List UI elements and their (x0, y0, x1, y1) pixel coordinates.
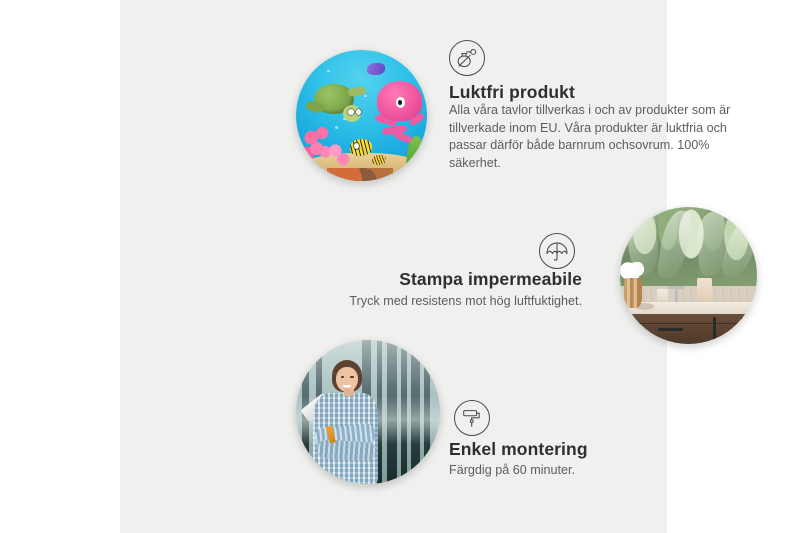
feature-1-body: Alla våra tavlor tillverkas i och av pro… (449, 102, 749, 172)
paint-roller-icon (454, 400, 490, 436)
no-odor-perfume-bottle-icon (449, 40, 485, 76)
underwater-cartoon-scene-photo (296, 50, 427, 181)
feature-2-body: Tryck med resistens mot hög luftfuktighe… (120, 293, 582, 311)
feature-3-title: Enkel montering (449, 439, 588, 460)
feature-3-body: Färgdig på 60 minuter. (449, 462, 729, 480)
painter-woman-forest-mural-photo (296, 340, 440, 484)
feature-2-title: Stampa impermeabile (120, 269, 582, 290)
feature-1-title: Luktfri produkt (449, 82, 575, 103)
content-panel: Luktfri produkt Alla våra tavlor tillver… (120, 0, 667, 533)
product-feature-infographic: Luktfri produkt Alla våra tavlor tillver… (0, 0, 800, 533)
umbrella-icon (539, 233, 575, 269)
bathroom-tropical-wallpaper-photo (620, 207, 757, 344)
